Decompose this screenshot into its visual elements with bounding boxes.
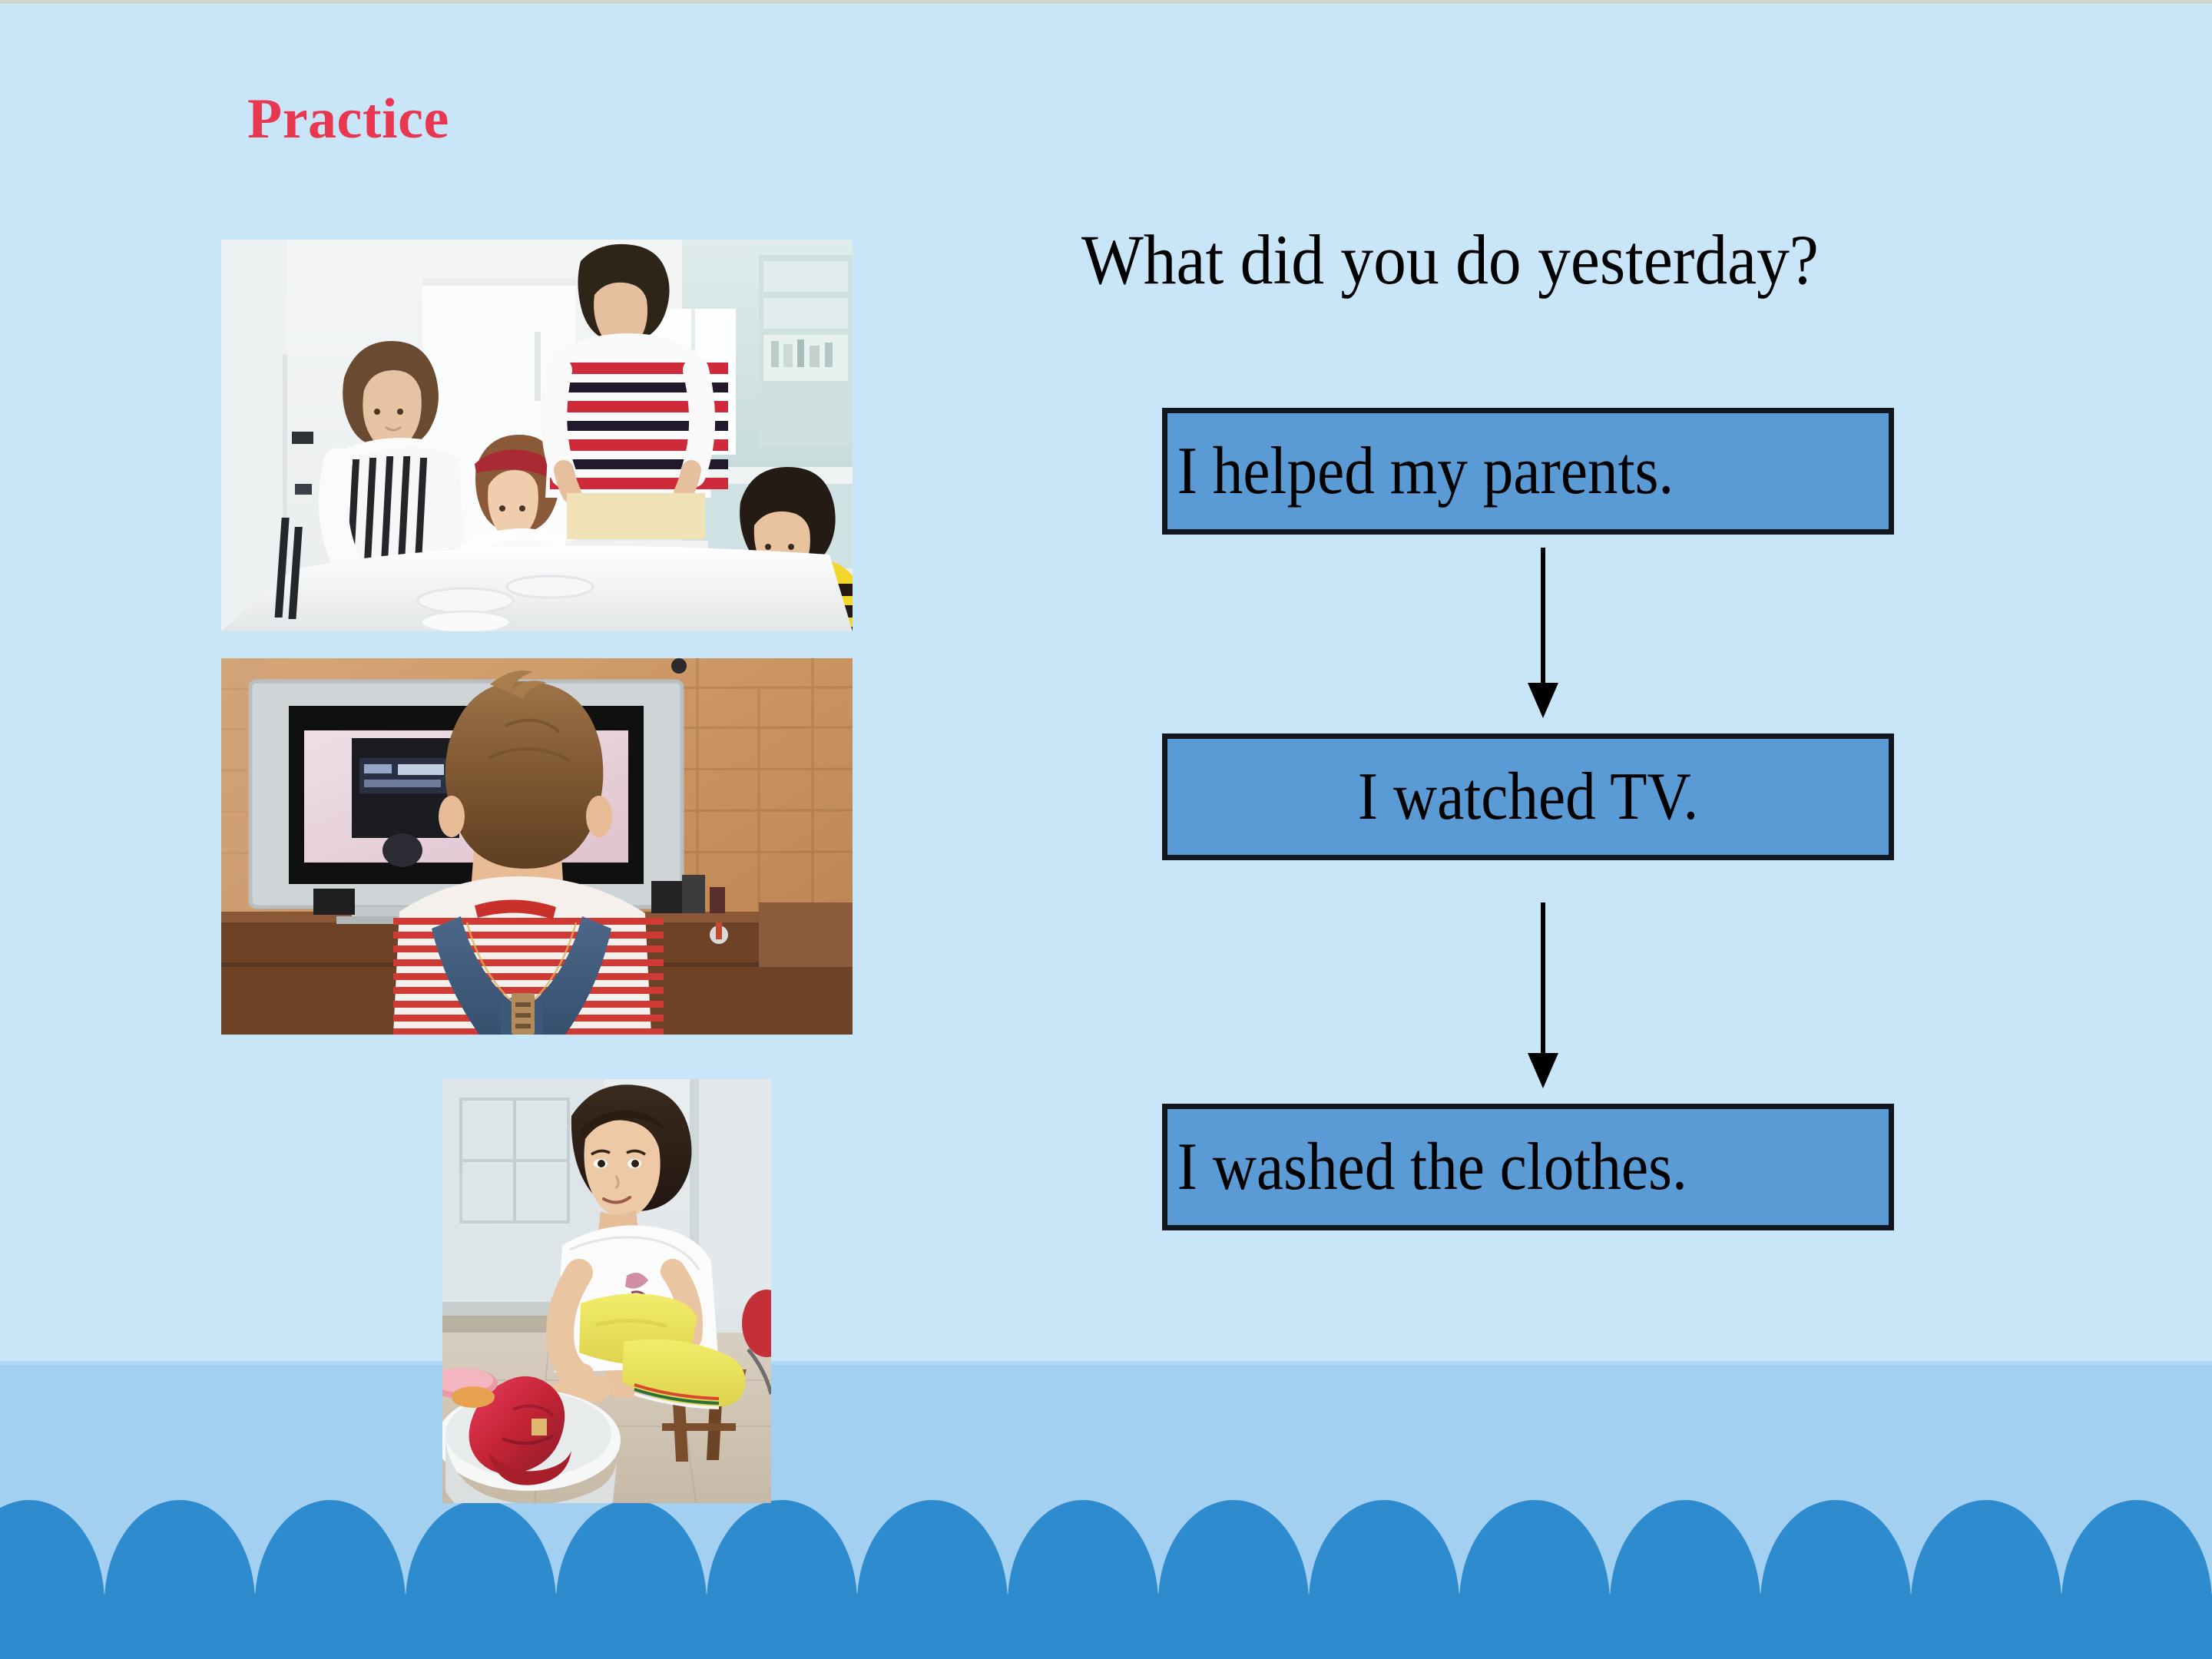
- scallop-shape: [1384, 1594, 1535, 1659]
- scallop-shape: [782, 1594, 932, 1659]
- flow-step-box-2[interactable]: I watched TV.: [1162, 733, 1894, 860]
- scallop-shape: [481, 1594, 631, 1659]
- flow-step-label-1: I helped my parents.: [1167, 438, 1816, 505]
- flow-arrow-1-shaft: [1541, 548, 1545, 686]
- photo-girl-washing-clothes: A girl in a white t-shirt and yellow tro…: [442, 1079, 771, 1503]
- scallop-shape: [631, 1594, 782, 1659]
- flow-arrow-2-down-icon: [1528, 902, 1558, 1091]
- scallop-shape: [1986, 1594, 2137, 1659]
- flow-step-label-3: I washed the clothes.: [1167, 1134, 1816, 1201]
- scallop-shape: [29, 1594, 180, 1659]
- photo-family-kitchen: A mother in a striped apron and three ch…: [221, 240, 853, 631]
- flow-step-label-2: I watched TV.: [1204, 763, 1853, 831]
- scallop-shape: [1836, 1594, 1986, 1659]
- scallop-shape: [0, 1594, 29, 1659]
- flow-arrow-2-head: [1528, 1053, 1558, 1088]
- flow-arrow-1-head: [1528, 683, 1558, 718]
- scallop-shape: [180, 1594, 330, 1659]
- flow-arrow-2-shaft: [1541, 902, 1545, 1056]
- scallop-shape: [1083, 1594, 1233, 1659]
- page-title: Practice: [247, 91, 449, 147]
- scallop-shape: [932, 1594, 1083, 1659]
- scallop-shape: [1535, 1594, 1685, 1659]
- photo-boy-watching-tv: A boy seen from behind in a red and whit…: [221, 658, 853, 1035]
- scallop-row-lower: [0, 1594, 2212, 1659]
- flow-step-box-1[interactable]: I helped my parents.: [1162, 408, 1894, 535]
- scallop-shape: [1233, 1594, 1384, 1659]
- top-edge-strip: [0, 0, 2212, 4]
- scallop-shape: [330, 1594, 481, 1659]
- scallop-shape: [2137, 1594, 2212, 1659]
- slide-canvas: Practice What did you do yesterday? I he…: [0, 0, 2212, 1659]
- question-text: What did you do yesterday?: [1081, 223, 1819, 297]
- scallop-shape: [1685, 1594, 1836, 1659]
- flow-step-box-3[interactable]: I washed the clothes.: [1162, 1104, 1894, 1230]
- flow-arrow-1-down-icon: [1528, 548, 1558, 718]
